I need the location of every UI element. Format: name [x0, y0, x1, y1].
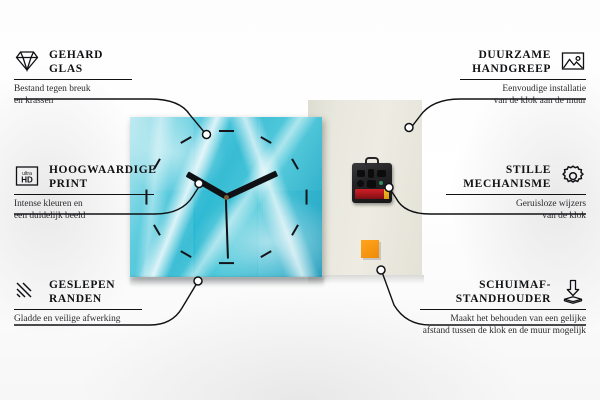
- feature-divider: [14, 309, 142, 310]
- mechanism-detail: [357, 170, 365, 177]
- gear-icon: [560, 163, 586, 189]
- feature-divider: [446, 194, 586, 195]
- product-photo: [130, 100, 350, 285]
- feature-title-line1: GESLEPEN: [49, 279, 115, 291]
- feature-duurzame-handgreep: DUURZAME HANDGREEP Eenvoudige installati…: [431, 48, 586, 107]
- feature-desc-line2: en krassen: [14, 96, 169, 108]
- clock-tick: [219, 130, 234, 132]
- mechanism-detail: [357, 180, 364, 187]
- feature-desc-line2: van de klok aan de muur: [431, 96, 586, 108]
- clock-tick: [260, 250, 271, 258]
- clock-tick: [145, 190, 147, 205]
- clock-minute-hand: [225, 171, 278, 200]
- feature-stille-mechanisme: STILLE MECHANISME Geruisloze wijzers van…: [426, 163, 586, 222]
- battery-positive-tip: [384, 189, 389, 199]
- clock-face: [130, 117, 322, 277]
- clock-tick: [291, 224, 299, 235]
- feature-desc-line1: Bestand tegen breuk: [14, 84, 169, 96]
- feature-title-line1: SCHUIMAF-: [479, 279, 551, 291]
- feature-title-line2: PRINT: [49, 178, 88, 190]
- feature-desc-line2: van de klok: [426, 211, 586, 223]
- clock-tick: [180, 250, 191, 258]
- clock-second-hand: [225, 197, 229, 259]
- glass-wall-clock: [130, 117, 322, 277]
- clock-tick: [153, 224, 161, 235]
- feature-title-line1: GEHARD: [49, 49, 103, 61]
- feature-schuimafstandhouder: SCHUIMAF- STANDHOUDER Maakt het behouden…: [404, 278, 586, 337]
- clock-tick: [219, 262, 234, 264]
- svg-text:HD: HD: [21, 176, 33, 185]
- clock-tick: [291, 158, 299, 169]
- feature-divider: [460, 79, 586, 80]
- mechanism-detail: [379, 181, 383, 185]
- feature-divider: [14, 79, 132, 80]
- feature-title-line2: GLAS: [49, 63, 83, 75]
- foam-spacer: [361, 240, 379, 258]
- clock-mechanism: [352, 163, 392, 203]
- mechanism-hook-icon: [365, 157, 379, 165]
- mechanism-detail: [377, 170, 386, 177]
- feature-title-line2: STANDHOUDER: [456, 293, 551, 305]
- feature-divider: [420, 309, 586, 310]
- infographic-stage: GEHARD GLAS Bestand tegen breuk en krass…: [0, 0, 600, 400]
- feature-desc-line1: Gladde en veilige afwerking: [14, 314, 179, 326]
- feature-desc-line1: Eenvoudige installatie: [431, 84, 586, 96]
- ultra-hd-icon: ultra HD: [14, 163, 40, 189]
- feature-title-line2: HANDGREEP: [472, 63, 551, 75]
- clock-tick: [180, 136, 191, 144]
- feature-title-line2: MECHANISME: [463, 178, 551, 190]
- bevelled-edges-icon: [14, 278, 40, 304]
- mechanism-detail: [368, 169, 374, 178]
- feature-desc-line1: Maakt het behouden van een gelijke: [404, 314, 586, 326]
- feature-desc-line1: Geruisloze wijzers: [426, 199, 586, 211]
- feature-geslepen-randen: GESLEPEN RANDEN Gladde en veilige afwerk…: [14, 278, 179, 326]
- diamond-icon: [14, 48, 40, 74]
- feature-desc-line2: afstand tussen de klok en de muur mogeli…: [404, 326, 586, 338]
- feature-title-line1: DUURZAME: [478, 49, 551, 61]
- picture-frame-icon: [560, 48, 586, 74]
- clock-tick: [305, 190, 307, 205]
- mechanism-detail: [367, 180, 376, 188]
- feature-title-line1: STILLE: [506, 164, 551, 176]
- clock-tick: [153, 158, 161, 169]
- clock-hour-hand: [186, 172, 228, 199]
- aa-battery: [355, 189, 389, 199]
- clock-hand-hub: [224, 195, 229, 200]
- arrow-down-spacer-icon: [560, 278, 586, 304]
- feature-title-line2: RANDEN: [49, 293, 102, 305]
- clock-tick: [260, 136, 271, 144]
- feature-gehard-glas: GEHARD GLAS Bestand tegen breuk en krass…: [14, 48, 169, 107]
